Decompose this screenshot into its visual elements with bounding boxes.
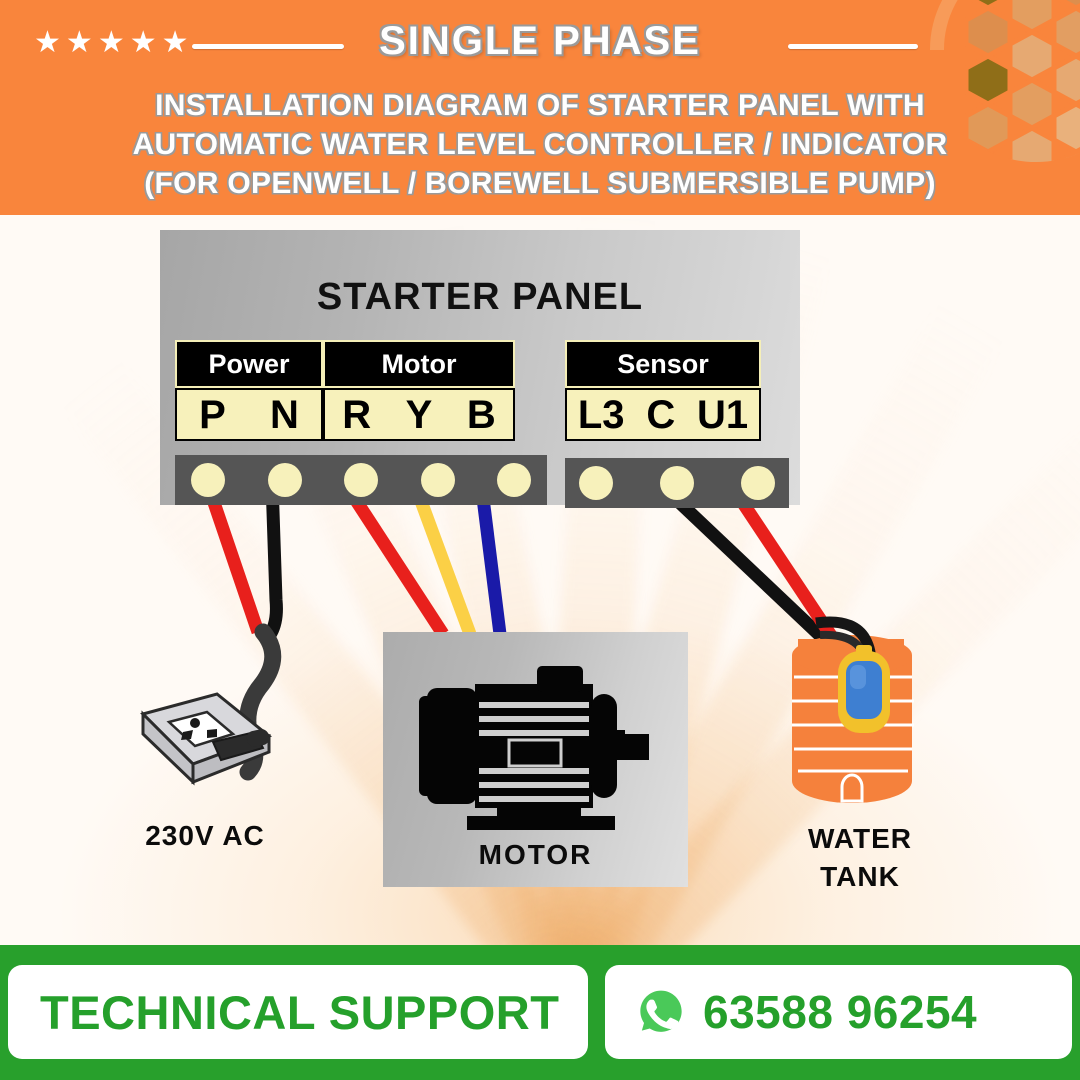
terminal-strip-sensor: [565, 458, 789, 508]
terminal-group-power-labels: P N: [175, 388, 323, 441]
terminal-screw-p[interactable]: [191, 463, 225, 497]
poster-footer: TECHNICAL SUPPORT 63588 96254: [0, 945, 1080, 1080]
technical-support-card: TECHNICAL SUPPORT: [8, 965, 588, 1059]
water-tank-float-switch-icon: [770, 615, 950, 815]
whatsapp-phone-number[interactable]: 63588 96254: [703, 965, 977, 1059]
terminal-group-sensor: Sensor L3 C U1: [565, 340, 761, 441]
terminal-label-y: Y: [406, 395, 433, 435]
whatsapp-icon[interactable]: [633, 984, 689, 1040]
terminal-group-motor: Motor R Y B: [323, 340, 515, 441]
header-title-line-2: AUTOMATIC WATER LEVEL CONTROLLER / INDIC…: [40, 125, 1040, 164]
terminal-screw-y[interactable]: [421, 463, 455, 497]
terminal-screw-c[interactable]: [660, 466, 694, 500]
terminal-group-power: Power P N: [175, 340, 323, 441]
header-eyebrow: SINGLE PHASE: [0, 19, 1080, 64]
terminal-group-power-header: Power: [175, 340, 323, 388]
terminal-screw-l3[interactable]: [579, 466, 613, 500]
terminal-label-u1: U1: [697, 395, 748, 435]
terminal-group-motor-labels: R Y B: [323, 388, 515, 441]
header-title: INSTALLATION DIAGRAM OF STARTER PANEL WI…: [40, 86, 1040, 203]
terminal-label-b: B: [467, 395, 496, 435]
technical-support-label: TECHNICAL SUPPORT: [40, 965, 559, 1059]
installation-diagram-poster: ★ ★ ★ ★ ★ SINGLE PHASE INSTALLATION DIAG…: [0, 0, 1080, 1080]
header-title-line-3: (FOR OPENWELL / BOREWELL SUBMERSIBLE PUM…: [40, 164, 1040, 203]
terminal-label-n: N: [270, 395, 299, 435]
tank-label: WATER TANK: [760, 820, 960, 896]
supply-label: 230V AC: [80, 820, 330, 852]
header-title-line-1: INSTALLATION DIAGRAM OF STARTER PANEL WI…: [40, 86, 1040, 125]
motor-label: MOTOR: [383, 839, 688, 871]
terminal-screw-b[interactable]: [497, 463, 531, 497]
terminal-label-p: P: [199, 395, 226, 435]
panel-title: STARTER PANEL: [160, 276, 800, 319]
electric-motor-icon: [401, 650, 669, 830]
terminal-group-sensor-labels: L3 C U1: [565, 388, 761, 441]
terminal-label-c: C: [646, 395, 675, 435]
terminal-screw-n[interactable]: [268, 463, 302, 497]
terminal-label-r: R: [342, 395, 371, 435]
tank-label-line-1: WATER: [760, 820, 960, 858]
terminal-label-l3: L3: [578, 395, 625, 435]
terminal-group-sensor-header: Sensor: [565, 340, 761, 388]
wall-socket-plug-icon: [135, 690, 275, 810]
tank-label-line-2: TANK: [760, 858, 960, 896]
terminal-screw-r[interactable]: [344, 463, 378, 497]
motor-device: MOTOR: [383, 632, 688, 887]
starter-panel: STARTER PANEL Power P N Motor R Y B Sens…: [160, 230, 800, 505]
whatsapp-contact-card[interactable]: 63588 96254: [605, 965, 1072, 1059]
terminal-screw-u1[interactable]: [741, 466, 775, 500]
terminal-strip-power-motor: [175, 455, 547, 505]
terminal-group-motor-header: Motor: [323, 340, 515, 388]
poster-header: ★ ★ ★ ★ ★ SINGLE PHASE INSTALLATION DIAG…: [0, 0, 1080, 215]
